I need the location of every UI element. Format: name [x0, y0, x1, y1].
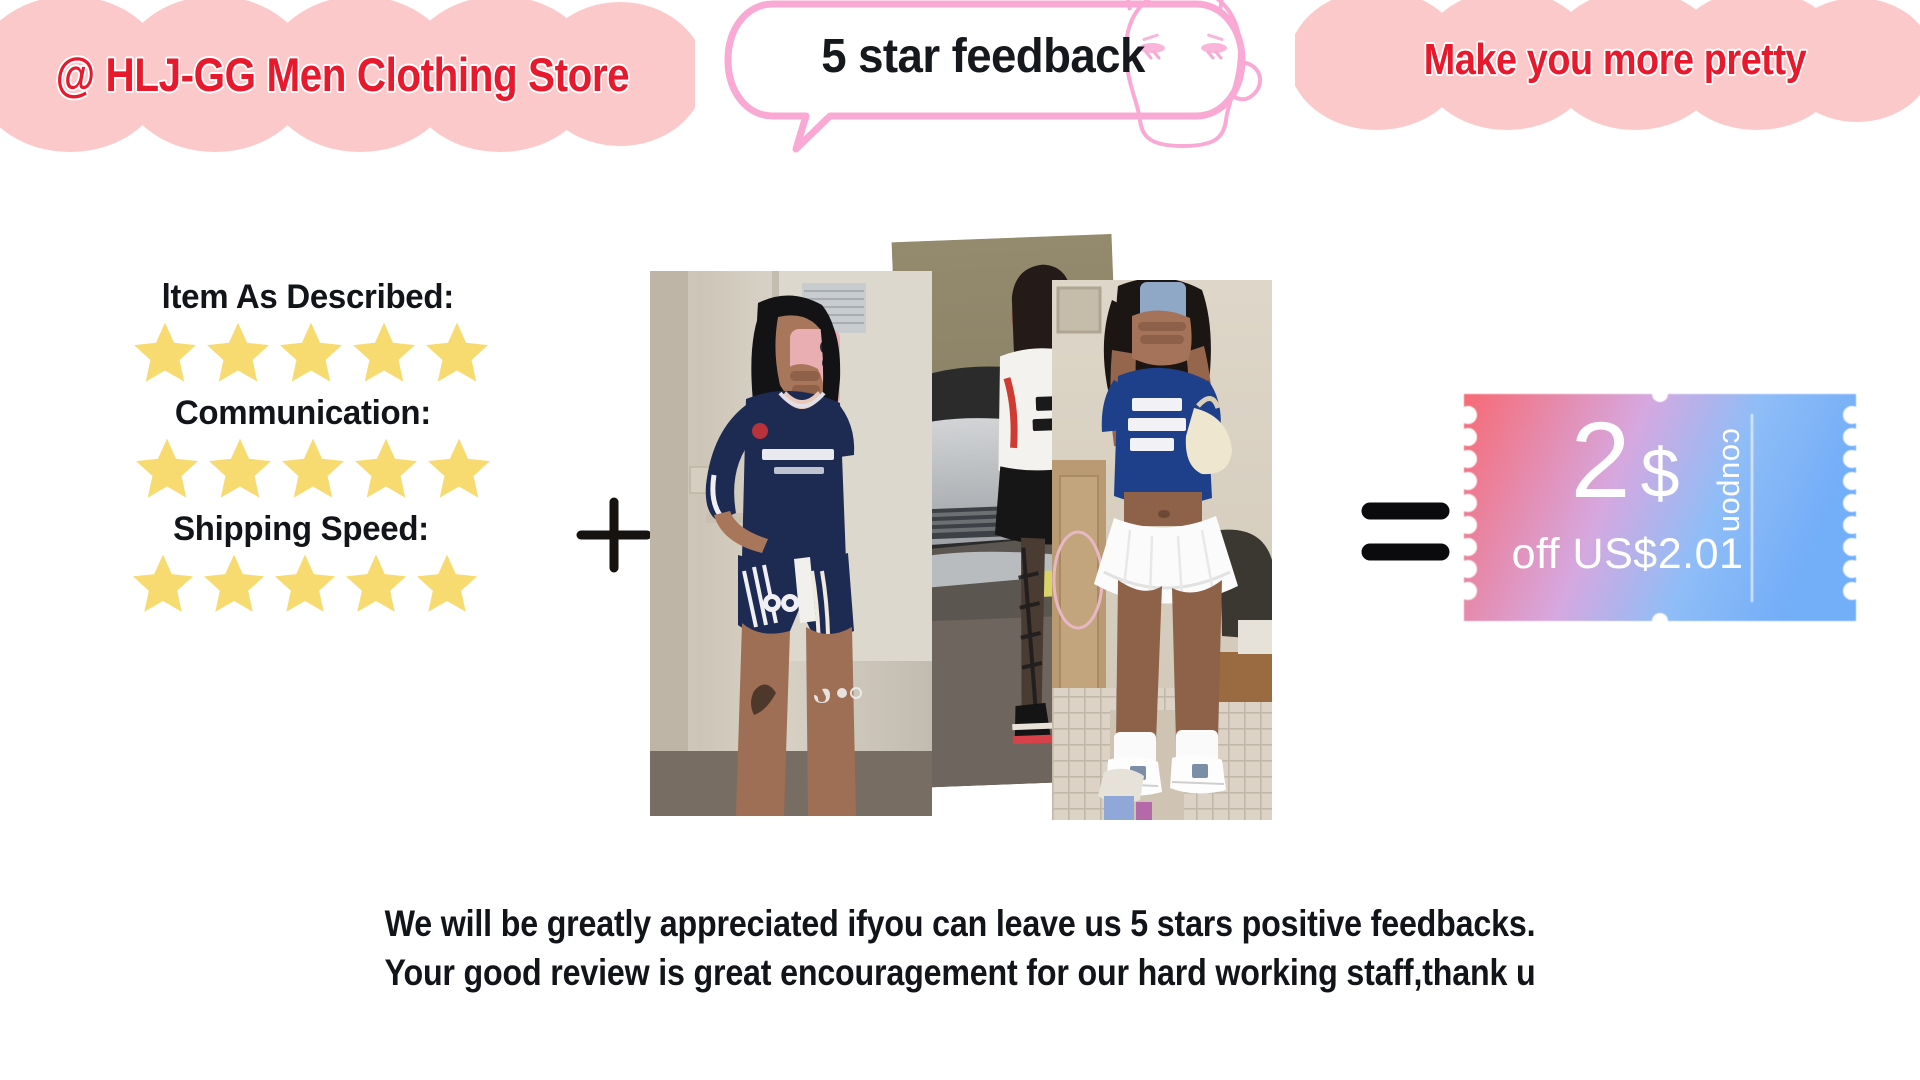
- customer-photo-1[interactable]: [650, 271, 932, 816]
- ratings-panel: ltem As Described: Communication: Shippi…: [80, 278, 520, 624]
- star-rating-group: [80, 318, 520, 388]
- star-rating-group: [80, 550, 520, 618]
- rating-item-as-described: ltem As Described:: [80, 278, 520, 388]
- rating-label: ltem As Described:: [87, 278, 514, 317]
- header-banner-row: @ HLJ-GG Men Clothing Store: [0, 0, 1920, 165]
- star-icon: [129, 318, 201, 388]
- rating-communication: Communication:: [80, 394, 520, 504]
- footer-request-text: We will be greatly appreciated ifyou can…: [0, 900, 1920, 998]
- star-icon: [202, 318, 274, 388]
- star-icon: [341, 550, 411, 618]
- star-icon: [128, 550, 198, 618]
- rating-label: Communication:: [87, 394, 514, 433]
- feedback-speech-bubble: 5 star feedback: [718, 0, 1278, 159]
- star-icon: [199, 550, 269, 618]
- photo-3-image: [1052, 280, 1272, 820]
- star-icon: [421, 318, 493, 388]
- store-name-banner: @ HLJ-GG Men Clothing Store: [0, 0, 695, 153]
- star-icon: [277, 434, 349, 504]
- star-icon: [131, 434, 203, 504]
- customer-photo-3[interactable]: [1052, 280, 1272, 820]
- feedback-bubble-text: 5 star feedback: [731, 0, 1235, 119]
- star-icon: [270, 550, 340, 618]
- rating-label: Shipping Speed:: [87, 510, 514, 549]
- footer-line-1: We will be greatly appreciated ifyou can…: [125, 900, 1795, 949]
- store-name-text: @ HLJ-GG Men Clothing Store: [39, 0, 645, 153]
- coupon-amount-value: 2: [1570, 406, 1630, 514]
- coupon-currency-symbol: $: [1641, 438, 1680, 508]
- photo-1-image: [650, 271, 932, 816]
- pretty-slogan-text: Make you more pretty: [1340, 0, 1890, 132]
- star-icon: [412, 550, 482, 618]
- star-icon: [423, 434, 495, 504]
- coupon-side-label: coupon: [1709, 428, 1751, 588]
- star-icon: [348, 318, 420, 388]
- star-icon: [275, 318, 347, 388]
- star-rating-group: [80, 434, 520, 504]
- star-icon: [350, 434, 422, 504]
- rating-shipping-speed: Shipping Speed:: [80, 510, 520, 618]
- coupon-ticket[interactable]: 2 $ off US$2.01 coupon: [1460, 390, 1860, 625]
- pretty-slogan-banner: Make you more pretty: [1295, 0, 1920, 132]
- footer-line-2: Your good review is great encouragement …: [125, 949, 1795, 998]
- star-icon: [204, 434, 276, 504]
- equals-sign-icon: [1358, 490, 1453, 572]
- customer-photo-collage: [640, 240, 1360, 840]
